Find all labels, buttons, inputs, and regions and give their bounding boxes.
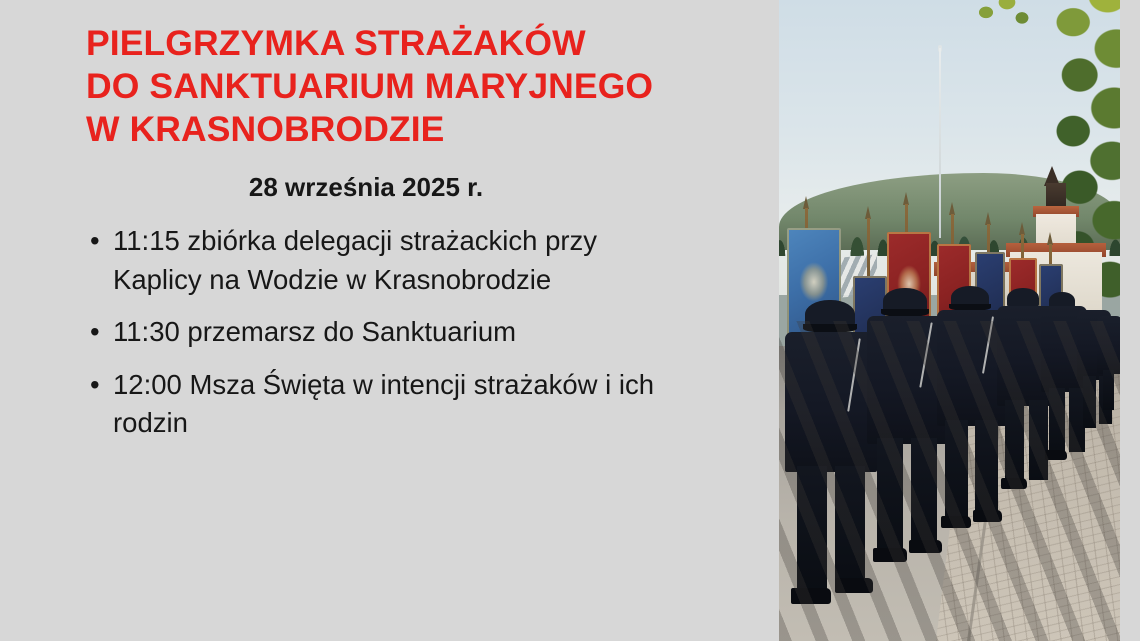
- marcher-legs: [877, 438, 903, 554]
- agenda-item-label: 12:00 Msza Święta w intencji strażaków i…: [113, 366, 686, 443]
- agenda-item-label: 11:30 przemarsz do Sanktuarium: [113, 313, 686, 352]
- marcher-legs: [835, 466, 865, 586]
- list-item: • 11:15 zbiórka delegacji strażackich pr…: [86, 222, 686, 299]
- marcher-shoe: [1001, 478, 1027, 489]
- marcher-shoe: [1045, 450, 1067, 460]
- bullet-icon: •: [90, 222, 100, 261]
- marcher-shoe: [941, 516, 971, 528]
- title-line-3: W KRASNOBRODZIE: [86, 108, 746, 151]
- marcher-legs: [945, 420, 968, 522]
- bullet-icon: •: [90, 366, 100, 405]
- title-line-2: DO SANKTUARIUM MARYJNEGO: [86, 65, 746, 108]
- slide: PIELGRZYMKA STRAŻAKÓW DO SANKTUARIUM MAR…: [0, 0, 1140, 641]
- list-item: • 11:30 przemarsz do Sanktuarium: [86, 313, 686, 352]
- page-title: PIELGRZYMKA STRAŻAKÓW DO SANKTUARIUM MAR…: [86, 22, 746, 151]
- text-panel: PIELGRZYMKA STRAŻAKÓW DO SANKTUARIUM MAR…: [0, 0, 779, 641]
- marcher-legs: [1083, 376, 1096, 428]
- agenda-item-label: 11:15 zbiórka delegacji strażackich przy…: [113, 222, 686, 299]
- marcher-legs: [1049, 388, 1065, 456]
- procession-photo: [779, 0, 1120, 641]
- marcher: [1097, 316, 1120, 374]
- marcher-legs: [975, 420, 998, 516]
- marcher-legs: [1005, 400, 1024, 484]
- marcher-legs: [1029, 400, 1048, 480]
- tree-branch: [974, 0, 1034, 40]
- marcher-legs: [797, 466, 827, 594]
- marcher: [867, 316, 947, 444]
- marcher-shoe: [835, 578, 873, 593]
- marcher-shoe: [791, 588, 831, 604]
- list-item: • 12:00 Msza Święta w intencji strażaków…: [86, 366, 686, 443]
- marcher-legs: [1103, 370, 1114, 410]
- flagpole: [939, 48, 941, 238]
- marcher-shoe: [909, 540, 942, 553]
- bullet-icon: •: [90, 313, 100, 352]
- event-date: 28 września 2025 r.: [86, 170, 646, 204]
- marcher-shoe: [973, 510, 1002, 522]
- marcher-legs: [911, 438, 937, 548]
- marcher-shoe: [873, 548, 907, 562]
- title-line-1: PIELGRZYMKA STRAŻAKÓW: [86, 22, 746, 65]
- banner-emblem: [799, 262, 828, 302]
- marcher: [785, 332, 877, 472]
- agenda-list: • 11:15 zbiórka delegacji strażackich pr…: [86, 222, 686, 457]
- photo-scene: [779, 0, 1120, 641]
